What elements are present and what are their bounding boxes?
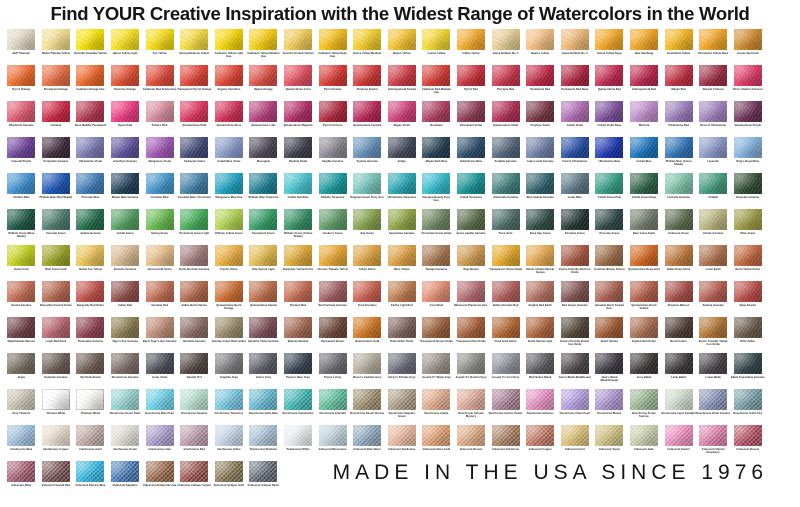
color-swatch[interactable] (353, 137, 381, 158)
swatch-cell[interactable]: Fuchsite Genuine (661, 173, 696, 209)
swatch-cell[interactable]: Iridescent Scarab Red (39, 461, 74, 487)
swatch-cell[interactable]: Amazonite Genuine (488, 173, 523, 209)
swatch-cell[interactable]: Tiger's Eye Genuine (108, 317, 143, 353)
color-swatch[interactable] (353, 173, 381, 194)
swatch-cell[interactable]: Quinacridone Sienna (246, 281, 281, 317)
color-swatch[interactable] (76, 389, 104, 410)
color-swatch[interactable] (249, 317, 277, 338)
swatch-cell[interactable]: Cerulean Blue (142, 173, 177, 209)
color-swatch[interactable] (180, 425, 208, 446)
color-swatch[interactable] (734, 281, 762, 302)
color-swatch[interactable] (76, 461, 104, 482)
color-swatch[interactable] (699, 65, 727, 86)
swatch-cell[interactable]: Payne's Gray (315, 353, 350, 389)
color-swatch[interactable] (76, 425, 104, 446)
swatch-cell[interactable]: Azo Yellow (142, 29, 177, 65)
swatch-cell[interactable]: Duochrome Desert Bronze (350, 389, 385, 425)
swatch-cell[interactable]: Iridescent Copper (523, 425, 558, 461)
color-swatch[interactable] (146, 425, 174, 446)
swatch-cell[interactable]: Burnt Sienna Light (523, 317, 558, 353)
swatch-cell[interactable]: Imperial Purple (4, 137, 39, 173)
color-swatch[interactable] (595, 389, 623, 410)
color-swatch[interactable] (388, 353, 416, 374)
swatch-cell[interactable]: Transparent Pyrrol Orange (177, 65, 212, 101)
swatch-cell[interactable]: Monte Amiata Natural Sienna (523, 245, 558, 281)
color-swatch[interactable] (457, 353, 485, 374)
color-swatch[interactable] (353, 425, 381, 446)
color-swatch[interactable] (630, 245, 658, 266)
color-swatch[interactable] (42, 101, 70, 122)
swatch-cell[interactable]: Terre Verte (488, 209, 523, 245)
color-swatch[interactable] (595, 245, 623, 266)
color-swatch[interactable] (388, 65, 416, 86)
color-swatch[interactable] (492, 353, 520, 374)
swatch-cell[interactable]: Naples Yellow (523, 29, 558, 65)
swatch-cell[interactable]: Iridescent Sandstone (385, 425, 420, 461)
swatch-cell[interactable]: Perylene Scarlet (350, 65, 385, 101)
swatch-cell[interactable]: Quinacridone Lilac (246, 101, 281, 137)
color-swatch[interactable] (249, 245, 277, 266)
swatch-cell[interactable]: Cadmium Yellow Deep Hue (315, 29, 350, 65)
color-swatch[interactable] (492, 101, 520, 122)
color-swatch[interactable] (180, 353, 208, 374)
color-swatch[interactable] (353, 65, 381, 86)
swatch-cell[interactable]: Cobalt Teal Blue (281, 173, 316, 209)
swatch-cell[interactable]: Cerulean Blue, Chromium (177, 173, 212, 209)
swatch-cell[interactable]: Tanagat Genuine (419, 245, 454, 281)
swatch-cell[interactable]: Dolomite Genuine (39, 353, 74, 389)
swatch-cell[interactable]: Jane's Black (Blue/Orange) (592, 353, 627, 389)
color-swatch[interactable] (146, 209, 174, 230)
swatch-cell[interactable]: Viridian (696, 173, 731, 209)
swatch-cell[interactable]: Isoindoline Yellow (661, 29, 696, 65)
color-swatch[interactable] (388, 101, 416, 122)
swatch-cell[interactable]: Duochrome Violet Fantasy (696, 389, 731, 425)
color-swatch[interactable] (699, 173, 727, 194)
swatch-cell[interactable]: Green Gold (4, 245, 39, 281)
color-swatch[interactable] (180, 281, 208, 302)
color-swatch[interactable] (422, 65, 450, 86)
color-swatch[interactable] (388, 245, 416, 266)
swatch-cell[interactable]: Permanent Green Light (177, 209, 212, 245)
swatch-cell[interactable]: Iridescent Antique Gold (212, 461, 247, 487)
color-swatch[interactable] (526, 173, 554, 194)
swatch-cell[interactable]: Sleeping Beauty Turq. Gen. (419, 173, 454, 209)
color-swatch[interactable] (7, 65, 35, 86)
color-swatch[interactable] (215, 245, 243, 266)
swatch-cell[interactable]: Lapis Lazuli Genuine (523, 137, 558, 173)
color-swatch[interactable] (146, 173, 174, 194)
swatch-cell[interactable]: Duochrome Mauve (592, 389, 627, 425)
swatch-cell[interactable]: Perylene Maroon (661, 281, 696, 317)
color-swatch[interactable] (526, 245, 554, 266)
swatch-cell[interactable]: Cadmium Red Scarlet Hue (142, 65, 177, 101)
color-swatch[interactable] (595, 29, 623, 50)
color-swatch[interactable] (457, 389, 485, 410)
color-swatch[interactable] (111, 209, 139, 230)
color-swatch[interactable] (7, 209, 35, 230)
color-swatch[interactable] (146, 389, 174, 410)
color-swatch[interactable] (734, 65, 762, 86)
color-swatch[interactable] (284, 281, 312, 302)
swatch-cell[interactable]: Green Apatite Genuine (454, 209, 489, 245)
color-swatch[interactable] (249, 425, 277, 446)
color-swatch[interactable] (630, 29, 658, 50)
color-swatch[interactable] (319, 209, 347, 230)
swatch-cell[interactable]: Wisteria (627, 101, 662, 137)
color-swatch[interactable] (561, 65, 589, 86)
swatch-cell[interactable]: Mayan Orange (246, 65, 281, 101)
color-swatch[interactable] (353, 353, 381, 374)
swatch-cell[interactable]: Rare Green Earth (627, 209, 662, 245)
color-swatch[interactable] (699, 389, 727, 410)
swatch-cell[interactable]: Manganese Violet (142, 137, 177, 173)
color-swatch[interactable] (146, 353, 174, 374)
color-swatch[interactable] (7, 389, 35, 410)
swatch-cell[interactable]: Permanent Red (523, 65, 558, 101)
swatch-cell[interactable]: Jane's Black (Red/Green) (558, 353, 593, 389)
color-swatch[interactable] (146, 29, 174, 50)
color-swatch[interactable] (457, 137, 485, 158)
swatch-cell[interactable]: Iridescent Blue Silver (350, 425, 385, 461)
color-swatch[interactable] (249, 101, 277, 122)
swatch-cell[interactable]: Quinophthalone Yellow (177, 29, 212, 65)
color-swatch[interactable] (111, 281, 139, 302)
swatch-cell[interactable]: Quinacridone Burnt Scarlet (627, 281, 662, 317)
swatch-cell[interactable]: Rich Green Gold (39, 245, 74, 281)
color-swatch[interactable] (595, 353, 623, 374)
swatch-cell[interactable]: Olive Green (730, 209, 765, 245)
color-swatch[interactable] (215, 389, 243, 410)
color-swatch[interactable] (388, 137, 416, 158)
swatch-cell[interactable]: French Ultramarine (558, 137, 593, 173)
color-swatch[interactable] (699, 245, 727, 266)
swatch-cell[interactable]: Ultramarine Turquoise (385, 173, 420, 209)
color-swatch[interactable] (388, 173, 416, 194)
color-swatch[interactable] (561, 281, 589, 302)
color-swatch[interactable] (353, 281, 381, 302)
swatch-cell[interactable]: Interference Green (108, 425, 143, 461)
color-swatch[interactable] (665, 209, 693, 230)
color-swatch[interactable] (353, 29, 381, 50)
color-swatch[interactable] (665, 317, 693, 338)
color-swatch[interactable] (526, 29, 554, 50)
swatch-cell[interactable]: Indigo (385, 137, 420, 173)
swatch-cell[interactable]: Bordeaux (419, 101, 454, 137)
color-swatch[interactable] (422, 317, 450, 338)
swatch-cell[interactable]: Carbazole Violet (177, 137, 212, 173)
color-swatch[interactable] (422, 209, 450, 230)
swatch-cell[interactable]: Fired Gold Ochre (488, 317, 523, 353)
swatch-cell[interactable]: Duochrome Lapis Sunlight (661, 389, 696, 425)
swatch-cell[interactable]: Lunar Blue (558, 173, 593, 209)
swatch-cell[interactable]: Quinacridone Rose (212, 101, 247, 137)
swatch-cell[interactable]: Transparent Brown Oxide (419, 317, 454, 353)
color-swatch[interactable] (526, 317, 554, 338)
color-swatch[interactable] (284, 317, 312, 338)
swatch-cell[interactable]: Potters Pink (142, 101, 177, 137)
swatch-cell[interactable]: Cadmium Orange Hue (73, 65, 108, 101)
swatch-cell[interactable]: English Red Ochre (627, 317, 662, 353)
color-swatch[interactable] (7, 245, 35, 266)
color-swatch[interactable] (42, 353, 70, 374)
color-swatch[interactable] (7, 317, 35, 338)
color-swatch[interactable] (284, 29, 312, 50)
swatch-cell[interactable]: Iridescent Aztec Gold (419, 425, 454, 461)
swatch-cell[interactable]: Phthalo Blue Turquoise (246, 173, 281, 209)
swatch-cell[interactable]: Pearlescent White (281, 425, 316, 461)
color-swatch[interactable] (630, 317, 658, 338)
color-swatch[interactable] (699, 317, 727, 338)
color-swatch[interactable] (284, 65, 312, 86)
color-swatch[interactable] (319, 137, 347, 158)
color-swatch[interactable] (353, 101, 381, 122)
swatch-cell[interactable]: Chinese White (39, 389, 74, 425)
swatch-cell[interactable]: Enviro-Friendly Brown Iron Oxide (558, 317, 593, 353)
swatch-cell[interactable]: Transparent Yellow Oxide (488, 245, 523, 281)
swatch-cell[interactable]: Hooker's Green (315, 209, 350, 245)
swatch-cell[interactable]: Buff Titanium (4, 29, 39, 65)
swatch-cell[interactable]: Ivory Black (627, 353, 662, 389)
swatch-cell[interactable]: Quinacridone Fuchsia (350, 101, 385, 137)
color-swatch[interactable] (561, 245, 589, 266)
swatch-cell[interactable]: Bronzite Genuine (108, 245, 143, 281)
swatch-cell[interactable]: Burnt Bronzite Genuine (177, 245, 212, 281)
swatch-cell[interactable]: Enviro-Friendly Red Iron Oxide (558, 245, 593, 281)
color-swatch[interactable] (595, 137, 623, 158)
color-swatch[interactable] (111, 353, 139, 374)
color-swatch[interactable] (7, 425, 35, 446)
swatch-cell[interactable]: Permanent Orange (39, 65, 74, 101)
color-swatch[interactable] (665, 101, 693, 122)
color-swatch[interactable] (665, 281, 693, 302)
swatch-cell[interactable]: Aussie Red Gold (730, 29, 765, 65)
color-swatch[interactable] (111, 173, 139, 194)
swatch-cell[interactable]: Permanent Yellow Deep (696, 29, 731, 65)
color-swatch[interactable] (422, 353, 450, 374)
color-swatch[interactable] (561, 317, 589, 338)
swatch-cell[interactable]: Mayan Blue Genuine (108, 173, 143, 209)
swatch-cell[interactable]: Lunar Earth (696, 245, 731, 281)
swatch-cell[interactable]: Deep Scarlet (730, 281, 765, 317)
color-swatch[interactable] (319, 65, 347, 86)
swatch-cell[interactable]: Phthalo Turquoise (315, 173, 350, 209)
color-swatch[interactable] (492, 65, 520, 86)
color-swatch[interactable] (215, 209, 243, 230)
swatch-cell[interactable]: Chrome Titanate Yellow (315, 245, 350, 281)
color-swatch[interactable] (492, 389, 520, 410)
color-swatch[interactable] (42, 209, 70, 230)
color-swatch[interactable] (699, 353, 727, 374)
swatch-cell[interactable]: Cobalt Turquoise (454, 173, 489, 209)
swatch-cell[interactable]: Garnet Genuine (4, 281, 39, 317)
color-swatch[interactable] (284, 245, 312, 266)
color-swatch[interactable] (422, 101, 450, 122)
swatch-cell[interactable]: Gray Titanium (4, 389, 39, 425)
color-swatch[interactable] (699, 209, 727, 230)
color-swatch[interactable] (319, 353, 347, 374)
color-swatch[interactable] (561, 29, 589, 50)
color-swatch[interactable] (561, 389, 589, 410)
swatch-cell[interactable]: Hansa Yellow Deep (592, 29, 627, 65)
color-swatch[interactable] (630, 101, 658, 122)
color-swatch[interactable] (561, 353, 589, 374)
color-swatch[interactable] (388, 317, 416, 338)
swatch-cell[interactable]: Duochrome Aquamarine (281, 389, 316, 425)
swatch-cell[interactable]: Quinacridone Burnt Orange (212, 281, 247, 317)
swatch-cell[interactable]: Carmine (39, 101, 74, 137)
color-swatch[interactable] (215, 317, 243, 338)
swatch-cell[interactable]: Interference Gold (73, 425, 108, 461)
color-swatch[interactable] (630, 137, 658, 158)
swatch-cell[interactable]: Phthalo Blue (Green Shade) (661, 137, 696, 173)
swatch-cell[interactable]: Ultramarine Violet (73, 137, 108, 173)
swatch-cell[interactable]: Italian Burnt Sienna (177, 281, 212, 317)
color-swatch[interactable] (180, 461, 208, 482)
swatch-cell[interactable]: Iridescent Antique Copper (177, 461, 212, 487)
color-swatch[interactable] (526, 137, 554, 158)
swatch-cell[interactable]: Permanent Green (246, 209, 281, 245)
color-swatch[interactable] (42, 245, 70, 266)
swatch-cell[interactable]: Quinacridone Deep Gold (627, 245, 662, 281)
swatch-cell[interactable]: Duochrome Hibiscus (523, 389, 558, 425)
swatch-cell[interactable]: Mayan Yellow (385, 29, 420, 65)
color-swatch[interactable] (595, 317, 623, 338)
color-swatch[interactable] (319, 29, 347, 50)
color-swatch[interactable] (215, 29, 243, 50)
color-swatch[interactable] (180, 389, 208, 410)
swatch-cell[interactable]: French Ochre (212, 245, 247, 281)
color-swatch[interactable] (215, 281, 243, 302)
swatch-cell[interactable]: Burnt Yellow Ochre (730, 245, 765, 281)
swatch-cell[interactable]: Diopside Genuine (730, 173, 765, 209)
swatch-cell[interactable]: Interference Blue (4, 425, 39, 461)
swatch-cell[interactable]: Anthraquinoid Red (627, 65, 662, 101)
color-swatch[interactable] (734, 389, 762, 410)
swatch-cell[interactable]: English Red Earth (523, 281, 558, 317)
swatch-cell[interactable]: Earthy Light Red (385, 281, 420, 317)
swatch-cell[interactable]: Verditer Blue (4, 173, 39, 209)
swatch-cell[interactable]: Alizarin Crimson (696, 65, 731, 101)
color-swatch[interactable] (284, 209, 312, 230)
color-swatch[interactable] (249, 353, 277, 374)
swatch-cell[interactable]: Mummy Bauxite (281, 317, 316, 353)
color-swatch[interactable] (457, 281, 485, 302)
color-swatch[interactable] (284, 389, 312, 410)
color-swatch[interactable] (734, 29, 762, 50)
color-swatch[interactable] (284, 173, 312, 194)
color-swatch[interactable] (526, 101, 554, 122)
swatch-cell[interactable]: Quinacridone Red (592, 65, 627, 101)
swatch-cell[interactable]: Iridescent Goldstone (488, 425, 523, 461)
swatch-cell[interactable]: Cadmium Yellow Medium Hue (246, 29, 281, 65)
swatch-cell[interactable]: Iridescent Russet (730, 425, 765, 461)
swatch-cell[interactable]: Hematite Violet Genuine (246, 317, 281, 353)
color-swatch[interactable] (111, 65, 139, 86)
color-swatch[interactable] (215, 173, 243, 194)
color-swatch[interactable] (42, 137, 70, 158)
swatch-cell[interactable]: Duochrome Oceanic (177, 389, 212, 425)
color-swatch[interactable] (595, 281, 623, 302)
swatch-cell[interactable]: Mayan Violet (385, 101, 420, 137)
color-swatch[interactable] (699, 137, 727, 158)
swatch-cell[interactable]: King's Royal Blue (730, 137, 765, 173)
color-swatch[interactable] (665, 389, 693, 410)
swatch-cell[interactable]: Quinacridone Gold (350, 317, 385, 353)
color-swatch[interactable] (42, 461, 70, 482)
color-swatch[interactable] (561, 425, 589, 446)
color-swatch[interactable] (249, 29, 277, 50)
swatch-cell[interactable]: Iridescent Jade (627, 425, 662, 461)
color-swatch[interactable] (146, 65, 174, 86)
swatch-cell[interactable]: Permanent Violet (454, 101, 489, 137)
swatch-cell[interactable]: Iridescent Topaz (592, 425, 627, 461)
color-swatch[interactable] (699, 425, 727, 446)
color-swatch[interactable] (353, 245, 381, 266)
swatch-cell[interactable]: Permanent Brown (315, 317, 350, 353)
swatch-cell[interactable]: Cobalt Green Deep (627, 173, 662, 209)
color-swatch[interactable] (353, 209, 381, 230)
color-swatch[interactable] (734, 425, 762, 446)
swatch-cell[interactable]: Rose of Ultramarine (696, 101, 731, 137)
color-swatch[interactable] (595, 209, 623, 230)
color-swatch[interactable] (526, 389, 554, 410)
color-swatch[interactable] (319, 173, 347, 194)
color-swatch[interactable] (215, 65, 243, 86)
color-swatch[interactable] (630, 389, 658, 410)
swatch-cell[interactable]: Chromium Green Oxide (419, 209, 454, 245)
swatch-cell[interactable]: Ahren's Primate Grey (385, 353, 420, 389)
color-swatch[interactable] (422, 173, 450, 194)
color-swatch[interactable] (630, 281, 658, 302)
color-swatch[interactable] (146, 461, 174, 482)
color-swatch[interactable] (734, 317, 762, 338)
swatch-cell[interactable]: Burnt Tiger's Eye Genuine (142, 317, 177, 353)
swatch-cell[interactable]: Duochrome Violet Pearl (558, 389, 593, 425)
color-swatch[interactable] (319, 317, 347, 338)
swatch-cell[interactable]: Ultramarine Red (661, 101, 696, 137)
color-swatch[interactable] (388, 209, 416, 230)
color-swatch[interactable] (734, 101, 762, 122)
color-swatch[interactable] (180, 173, 208, 194)
swatch-cell[interactable]: Interference Red (177, 425, 212, 461)
color-swatch[interactable] (146, 101, 174, 122)
color-swatch[interactable] (7, 281, 35, 302)
color-swatch[interactable] (734, 209, 762, 230)
swatch-cell[interactable]: Sedona Genuine (696, 281, 731, 317)
color-swatch[interactable] (457, 173, 485, 194)
swatch-cell[interactable]: Iridescent Ruby (4, 461, 39, 487)
swatch-cell[interactable]: Transparent Red Oxide (454, 317, 489, 353)
swatch-cell[interactable]: Cascade Green (39, 209, 74, 245)
color-swatch[interactable] (526, 281, 554, 302)
color-swatch[interactable] (457, 425, 485, 446)
swatch-cell[interactable]: Deep Sap Green (523, 209, 558, 245)
color-swatch[interactable] (42, 425, 70, 446)
swatch-cell[interactable]: Iridescent Electric Blue (73, 461, 108, 487)
color-swatch[interactable] (284, 101, 312, 122)
swatch-cell[interactable]: Perylene Violet (523, 101, 558, 137)
swatch-cell[interactable]: Perm. Alizarin Crimson (730, 65, 765, 101)
color-swatch[interactable] (284, 425, 312, 446)
swatch-cell[interactable]: Shadow Violet (281, 137, 316, 173)
color-swatch[interactable] (630, 425, 658, 446)
swatch-cell[interactable]: Iridescent Antique Silver (246, 461, 281, 487)
swatch-cell[interactable]: Hansa Yellow Light (108, 29, 143, 65)
swatch-cell[interactable]: Phthalo Yellow Green (212, 209, 247, 245)
color-swatch[interactable] (180, 245, 208, 266)
swatch-cell[interactable]: Phthalo Blue (Red Shade) (39, 173, 74, 209)
